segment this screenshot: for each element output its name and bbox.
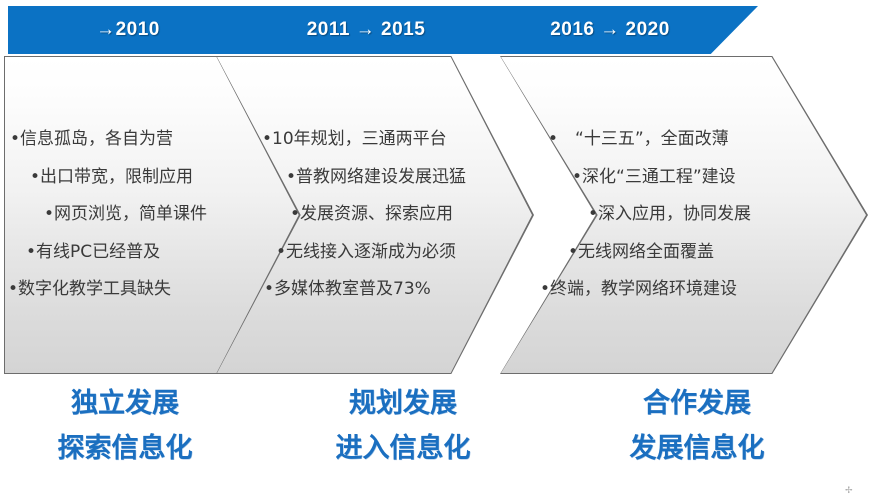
list-item: •数字化教学工具缺失 bbox=[8, 280, 171, 300]
list-item: •出口带宽，限制应用 bbox=[30, 168, 193, 188]
list-item: • “十三五”，全面改薄 bbox=[548, 130, 729, 150]
list-item: •无线接入逐渐成为必须 bbox=[276, 243, 456, 263]
period-label-2: 2011 → 2015 bbox=[256, 6, 476, 54]
list-item: •终端，教学网络环境建设 bbox=[540, 280, 737, 300]
period-label-1: →2010 bbox=[18, 6, 238, 54]
caption-line-2: 发展信息化 bbox=[572, 435, 822, 462]
caption-stage-3: 合作发展 发展信息化 bbox=[572, 376, 822, 462]
list-item: •信息孤岛，各自为营 bbox=[10, 130, 173, 150]
chevron-stage-2-text: •10年规划，三通两平台 •普教网络建设发展迅猛 •发展资源、探索应用 •无线接… bbox=[258, 56, 526, 374]
chevron-row: •信息孤岛，各自为营 •出口带宽，限制应用 •网页浏览，简单课件 •有线PC已经… bbox=[0, 56, 872, 376]
list-item: •无线网络全面覆盖 bbox=[568, 243, 714, 263]
caption-row: 独立发展 探索信息化 规划发展 进入信息化 合作发展 发展信息化 bbox=[0, 376, 872, 501]
list-item: •普教网络建设发展迅猛 bbox=[286, 168, 466, 188]
list-item: •深化“三通工程”建设 bbox=[572, 168, 736, 188]
banner-label-group: →2010 2011 → 2015 2016 → 2020 bbox=[8, 6, 758, 54]
list-item: •网页浏览，简单课件 bbox=[44, 205, 207, 225]
chevron-stage-1-text: •信息孤岛，各自为营 •出口带宽，限制应用 •网页浏览，简单课件 •有线PC已经… bbox=[8, 56, 258, 374]
list-item: •有线PC已经普及 bbox=[26, 243, 160, 263]
caption-line-2: 探索信息化 bbox=[0, 435, 250, 462]
list-item: •深入应用，协同发展 bbox=[588, 205, 751, 225]
caption-line-2: 进入信息化 bbox=[278, 435, 528, 462]
period-label-3: 2016 → 2020 bbox=[500, 6, 720, 54]
timeline-header-banner: →2010 2011 → 2015 2016 → 2020 bbox=[8, 6, 758, 54]
slide-canvas: →2010 2011 → 2015 2016 → 2020 •信息孤岛，各自为营… bbox=[0, 0, 872, 501]
list-item: •10年规划，三通两平台 bbox=[262, 130, 447, 150]
list-item: •发展资源、探索应用 bbox=[290, 205, 453, 225]
caption-stage-1: 独立发展 探索信息化 bbox=[0, 376, 250, 462]
caption-stage-2: 规划发展 进入信息化 bbox=[278, 376, 528, 462]
chevron-stage-3-text: • “十三五”，全面改薄 •深化“三通工程”建设 •深入应用，协同发展 •无线网… bbox=[540, 56, 830, 374]
caption-line-1: 规划发展 bbox=[278, 390, 528, 417]
list-item: •多媒体教室普及73% bbox=[264, 280, 431, 300]
caption-line-1: 合作发展 bbox=[572, 390, 822, 417]
corner-marker-icon: ✢ bbox=[845, 487, 852, 494]
caption-line-1: 独立发展 bbox=[0, 390, 250, 417]
